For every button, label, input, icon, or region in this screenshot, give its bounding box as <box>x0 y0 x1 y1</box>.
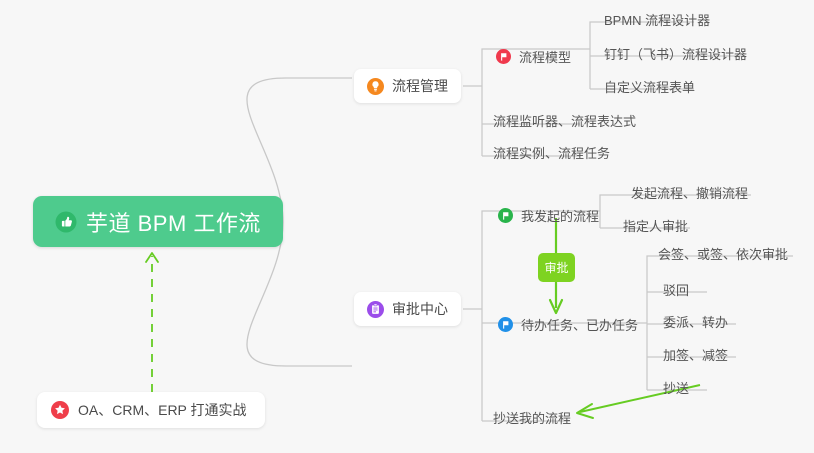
leaf-label: 抄送 <box>663 378 689 397</box>
leaf-label: 待办任务、已办任务 <box>521 315 638 334</box>
leaf-label: 发起流程、撤销流程 <box>631 183 748 202</box>
dashed-arrow-to-root <box>146 253 158 392</box>
leaf-label: 我发起的流程 <box>521 206 599 225</box>
leaf-process-model[interactable]: 流程模型 <box>490 44 577 70</box>
branch-label: 审批中心 <box>392 299 448 319</box>
mindmap-canvas: 芋道 BPM 工作流 流程管理 流程模型 流程监听器、流程表达式 流程实例、流程… <box>0 0 814 453</box>
note-node-integration[interactable]: OA、CRM、ERP 打通实战 <box>37 392 265 428</box>
root-label: 芋道 BPM 工作流 <box>86 206 261 238</box>
branch-node-approval-center[interactable]: 审批中心 <box>354 292 461 326</box>
leaf-label: 自定义流程表单 <box>604 77 695 96</box>
leaf-dingtalk-feishu-designer[interactable]: 钉钉（飞书）流程设计器 <box>598 41 753 67</box>
leaf-assignee-approval[interactable]: 指定人审批 <box>617 213 694 239</box>
leaf-cc-to-me[interactable]: 抄送我的流程 <box>487 405 577 431</box>
leaf-instance-task[interactable]: 流程实例、流程任务 <box>487 140 616 166</box>
leaf-label: 会签、或签、依次审批 <box>658 244 788 263</box>
leaf-listener-expression[interactable]: 流程监听器、流程表达式 <box>487 108 642 134</box>
leaf-label: 驳回 <box>663 280 689 299</box>
leaf-label: 流程监听器、流程表达式 <box>493 111 636 130</box>
leaf-delegate-transfer[interactable]: 委派、转办 <box>657 309 734 335</box>
leaf-label: 加签、减签 <box>663 345 728 364</box>
leaf-label: 流程实例、流程任务 <box>493 143 610 162</box>
leaf-reject[interactable]: 驳回 <box>657 277 695 303</box>
flag-icon <box>498 317 513 332</box>
leaf-cc[interactable]: 抄送 <box>657 375 695 401</box>
leaf-custom-process-form[interactable]: 自定义流程表单 <box>598 74 701 100</box>
branch-label: 流程管理 <box>392 76 448 96</box>
thumbs-up-icon <box>55 211 77 233</box>
star-icon <box>51 401 69 419</box>
flag-icon <box>496 49 511 64</box>
leaf-bpmn-designer[interactable]: BPMN 流程设计器 <box>598 7 716 33</box>
note-label: OA、CRM、ERP 打通实战 <box>78 400 247 420</box>
leaf-label: 流程模型 <box>519 47 571 66</box>
leaf-add-remove-sign[interactable]: 加签、减签 <box>657 342 734 368</box>
leaf-my-initiated-process[interactable]: 我发起的流程 <box>492 203 605 229</box>
leaf-label: 抄送我的流程 <box>493 408 571 427</box>
root-node[interactable]: 芋道 BPM 工作流 <box>33 196 283 247</box>
leaf-label: 委派、转办 <box>663 312 728 331</box>
leaf-label: 钉钉（飞书）流程设计器 <box>604 44 747 63</box>
callout-approval[interactable]: 审批 <box>538 253 575 282</box>
leaf-todo-done-tasks[interactable]: 待办任务、已办任务 <box>492 312 644 338</box>
leaf-label: 指定人审批 <box>623 216 688 235</box>
branch-node-process-management[interactable]: 流程管理 <box>354 69 461 103</box>
flag-icon <box>498 208 513 223</box>
clipboard-icon <box>367 301 384 318</box>
leaf-start-cancel-process[interactable]: 发起流程、撤销流程 <box>625 180 754 206</box>
lightbulb-icon <box>367 78 384 95</box>
callout-label: 审批 <box>544 259 568 276</box>
leaf-multi-sign[interactable]: 会签、或签、依次审批 <box>652 241 794 267</box>
leaf-label: BPMN 流程设计器 <box>604 10 710 29</box>
